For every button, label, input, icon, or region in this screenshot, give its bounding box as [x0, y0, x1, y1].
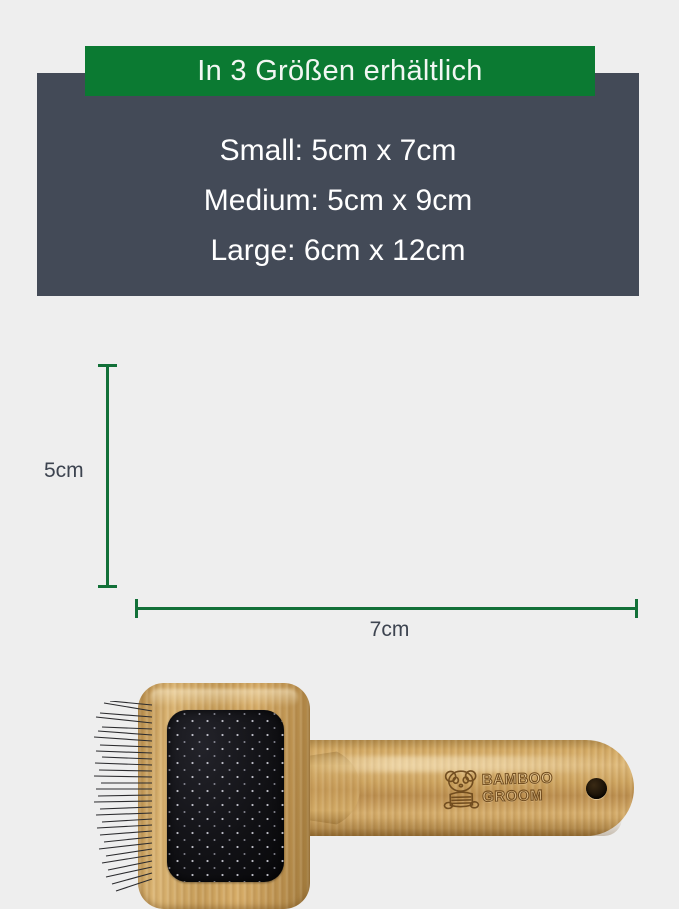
brush-head	[138, 683, 310, 909]
hang-hole	[586, 778, 607, 799]
size-list-item-large: Large: 6cm x 12cm	[37, 226, 639, 276]
size-list-item-small: Small: 5cm x 7cm	[37, 126, 639, 176]
headline-banner: In 3 Größen erhältlich	[85, 46, 595, 96]
width-measure-cap-left	[135, 599, 138, 618]
bamboo-handle: BAMBOO GROOM	[286, 740, 634, 836]
brush-head-highlight	[150, 689, 298, 707]
brand-logo: BAMBOO GROOM	[441, 760, 568, 815]
handle-shadow	[296, 818, 622, 836]
pin-tips	[167, 710, 284, 882]
width-measure-label: 7cm	[370, 618, 410, 641]
width-measure-line	[135, 607, 638, 610]
height-measure-line	[106, 364, 109, 588]
size-list-item-medium: Medium: 5cm x 9cm	[37, 176, 639, 226]
height-measure-cap-top	[98, 364, 117, 367]
brand-wordmark: BAMBOO GROOM	[481, 760, 568, 814]
pin-pad	[167, 710, 284, 882]
size-list: Small: 5cm x 7cm Medium: 5cm x 9cm Large…	[37, 126, 639, 276]
brand-line-2: GROOM	[482, 786, 568, 805]
width-measure-label-wrap: 7cm	[0, 618, 679, 642]
headline-text: In 3 Größen erhältlich	[197, 57, 482, 86]
panda-icon	[441, 767, 480, 810]
height-measure-cap-bottom	[98, 585, 117, 588]
product-infographic: In 3 Größen erhältlich Small: 5cm x 7cm …	[0, 0, 679, 679]
height-measure-label: 5cm	[44, 459, 84, 483]
width-measure-cap-right	[635, 599, 638, 618]
